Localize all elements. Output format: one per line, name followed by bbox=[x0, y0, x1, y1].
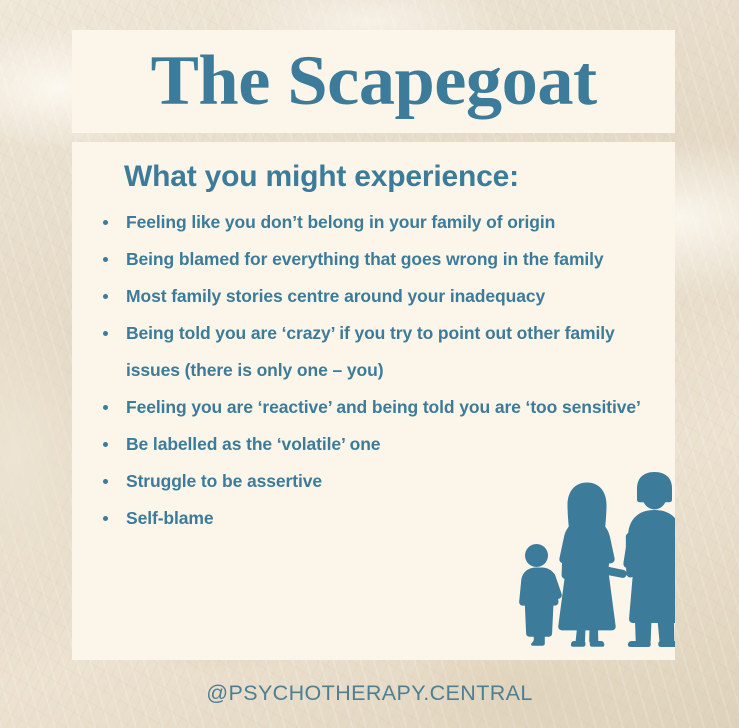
list-item: Be labelled as the ‘volatile’ one bbox=[98, 426, 526, 463]
list-item-text: Feeling you are ‘reactive’ and being tol… bbox=[126, 397, 641, 417]
title-panel: The Scapegoat bbox=[72, 30, 675, 133]
list-item-text: Self-blame bbox=[126, 508, 214, 528]
list-item-text: Be labelled as the ‘volatile’ one bbox=[126, 434, 380, 454]
mother-figure bbox=[558, 483, 626, 647]
bullet-dot-icon bbox=[103, 479, 108, 484]
list-item: Feeling like you don’t belong in your fa… bbox=[98, 204, 656, 241]
section-heading: What you might experience: bbox=[124, 160, 519, 194]
list-item-text: Struggle to be assertive bbox=[126, 471, 322, 491]
bullet-dot-icon bbox=[103, 405, 108, 410]
brand-handle: @PSYCHOTHERAPY.CENTRAL bbox=[0, 681, 739, 706]
list-item: Most family stories centre around your i… bbox=[98, 278, 656, 315]
family-silhouette-icon bbox=[515, 467, 675, 647]
list-item: Self-blame bbox=[98, 500, 526, 537]
content-panel: What you might experience: Feeling like … bbox=[72, 142, 675, 660]
bullet-dot-icon bbox=[103, 294, 108, 299]
bullet-dot-icon bbox=[103, 442, 108, 447]
bullet-dot-icon bbox=[103, 220, 108, 225]
list-item: Being told you are ‘crazy’ if you try to… bbox=[98, 315, 656, 389]
bullet-dot-icon bbox=[103, 516, 108, 521]
bullet-dot-icon bbox=[103, 257, 108, 262]
list-item-text: Most family stories centre around your i… bbox=[126, 286, 545, 306]
father-figure bbox=[623, 472, 675, 647]
list-item: Feeling you are ‘reactive’ and being tol… bbox=[98, 389, 656, 426]
list-item: Struggle to be assertive bbox=[98, 463, 526, 500]
list-item: Being blamed for everything that goes wr… bbox=[98, 241, 656, 278]
list-item-text: Being blamed for everything that goes wr… bbox=[126, 249, 604, 269]
bullet-dot-icon bbox=[103, 331, 108, 336]
list-item-text: Being told you are ‘crazy’ if you try to… bbox=[126, 323, 615, 380]
page-title: The Scapegoat bbox=[151, 46, 597, 117]
list-item-text: Feeling like you don’t belong in your fa… bbox=[126, 212, 555, 232]
boy-figure bbox=[519, 544, 562, 646]
